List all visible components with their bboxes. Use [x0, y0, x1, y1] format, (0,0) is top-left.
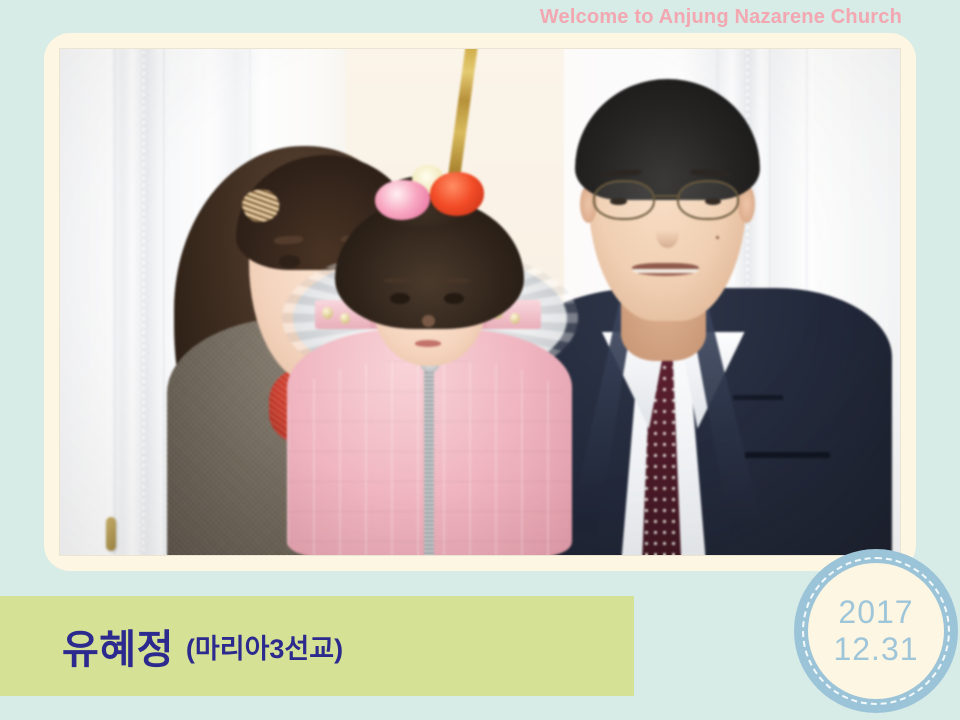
- person-name: 유혜정: [62, 617, 174, 675]
- glasses-lens: [677, 180, 739, 220]
- glasses-bridge: [655, 195, 680, 197]
- child-jacket-snap: [510, 313, 520, 325]
- man-head: [575, 79, 760, 332]
- person-child: [287, 191, 573, 555]
- welcome-text: Welcome to Anjung Nazarene Church: [540, 6, 902, 29]
- photo-frame: [44, 33, 916, 571]
- man-smile: [632, 263, 699, 276]
- glasses-icon: [590, 180, 746, 220]
- date-badge: 2017 12.31: [794, 549, 958, 713]
- mission-group: (마리아3선교): [186, 627, 343, 666]
- glasses-lens: [593, 180, 655, 220]
- man-suit-pocket: [733, 395, 783, 400]
- child-mouth: [415, 340, 441, 347]
- man-nose: [656, 218, 678, 248]
- badge-inner-circle: 2017 12.31: [808, 563, 944, 699]
- name-caption-bar: 유혜정 (마리아3선교): [0, 596, 634, 696]
- family-photo: [60, 49, 900, 555]
- child-jacket-snap: [322, 307, 332, 319]
- flower-hair-accessory-icon: [375, 180, 429, 220]
- flower-hair-accessory-icon: [430, 172, 484, 216]
- child-eyebrow: [384, 278, 413, 283]
- child-eye: [444, 293, 464, 305]
- door-handle: [106, 517, 116, 551]
- man-mole: [716, 236, 719, 240]
- beaded-molding: [140, 49, 147, 555]
- man-suit-pocket: [745, 452, 830, 458]
- child-eye: [390, 293, 410, 305]
- child-eyebrow: [441, 278, 470, 283]
- badge-year: 2017: [838, 595, 913, 630]
- badge-month-day: 12.31: [833, 632, 918, 667]
- wall-panel-edge: [114, 49, 116, 555]
- welcome-header: Welcome to Anjung Nazarene Church: [0, 0, 960, 34]
